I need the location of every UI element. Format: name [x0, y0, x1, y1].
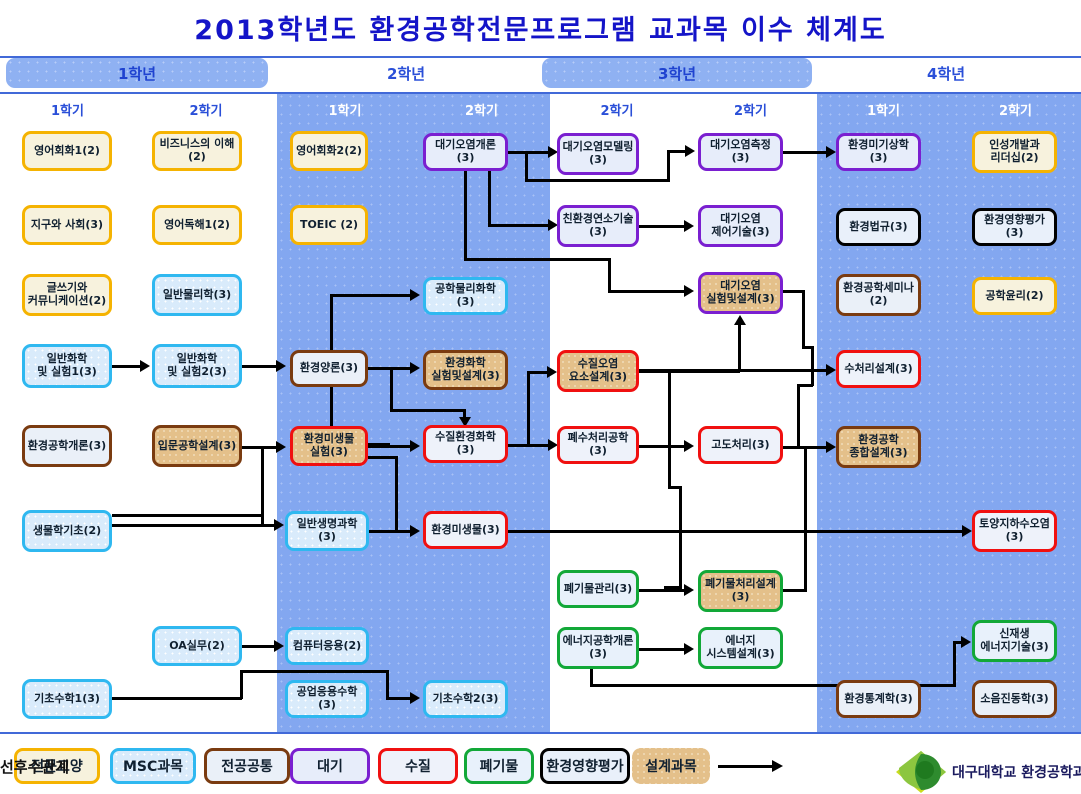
year-header-4: 4학년 [814, 58, 1078, 88]
semester-header-1-1: 1학기 [0, 98, 135, 120]
connector-arrow [276, 441, 286, 453]
course-box[interactable]: 환경통계학(3) [836, 680, 921, 718]
header-divider-mid [0, 92, 1081, 94]
header-divider-top [0, 56, 1081, 58]
course-box[interactable]: 환경미생물(3) [423, 511, 508, 549]
course-box[interactable]: 공업응용수학(3) [285, 680, 369, 718]
connector-arrow [140, 360, 150, 372]
connector-arrow [410, 692, 420, 704]
course-label: 공업응용수학(3) [290, 686, 364, 711]
connector-line [369, 530, 413, 533]
connector-line [525, 151, 528, 181]
course-label: 영어회화2(2) [296, 145, 362, 158]
connector-line [679, 486, 682, 586]
connector-line [811, 346, 814, 386]
curriculum-flowchart-page: 2013학년도 환경공학전문프로그램 교과목 이수 체계도 1학년 2학년 3학… [0, 0, 1081, 794]
course-label: TOEIC (2) [300, 219, 358, 232]
connector-arrow [274, 640, 284, 652]
course-box[interactable]: 토양지하수오염(3) [972, 510, 1057, 552]
course-box[interactable]: 폐기물관리(3) [557, 570, 639, 608]
course-box[interactable]: 환경영향평가(3) [972, 208, 1057, 246]
year-header-label: 2학년 [387, 63, 425, 84]
connector-line [608, 290, 688, 293]
connector-line [797, 384, 800, 446]
course-label: 비즈니스의 이해(2) [160, 138, 235, 163]
course-box[interactable]: 영어회화1(2) [22, 131, 112, 171]
course-box[interactable]: 환경미생물실험(3) [290, 426, 368, 466]
connector-line [330, 294, 333, 352]
connector-arrow [410, 362, 420, 374]
legend-item: 폐기물 [464, 748, 534, 784]
course-label: 환경공학종합설계(3) [849, 434, 907, 459]
connector-line [508, 151, 552, 154]
legend-item-label: 환경영향평가 [546, 756, 623, 776]
legend-item: 대기 [290, 748, 370, 784]
course-box[interactable]: 폐기물처리설계(3) [698, 570, 783, 612]
connector-line [390, 367, 393, 411]
connector-arrow [410, 440, 420, 452]
course-label: 환경공학개론(3) [28, 440, 106, 453]
year-header-2: 2학년 [272, 58, 540, 88]
course-label: 컴퓨터응용(2) [293, 640, 361, 653]
course-box[interactable]: 대기오염모델링(3) [557, 133, 639, 175]
course-box[interactable]: 대기오염제어기술(3) [698, 205, 783, 247]
semester-header-1-2: 2학기 [135, 98, 277, 120]
course-box[interactable]: 공학물리화학(3) [423, 277, 508, 315]
course-box[interactable]: 인성개발과리더십(2) [972, 131, 1057, 173]
course-label: 인성개발과리더십(2) [989, 139, 1040, 164]
legend-item: 환경영향평가 [540, 748, 630, 784]
connector-arrow [826, 441, 836, 453]
semester-header-3-1: 2학기 [550, 98, 684, 120]
course-box[interactable]: OA실무(2) [152, 626, 242, 666]
connector-arrow [410, 525, 420, 537]
course-label: 환경양론(3) [300, 362, 358, 375]
connector-line [242, 365, 278, 368]
course-label: 에너지공학개론(3) [563, 635, 634, 660]
course-label: 영어독해1(2) [164, 219, 230, 232]
course-label: 대기오염제어기술(3) [711, 213, 769, 238]
connector-line [639, 648, 687, 651]
connector-line [386, 670, 389, 699]
course-box[interactable]: 일반물리학(3) [152, 274, 242, 316]
connector-line [488, 224, 552, 227]
semester-header-4-2: 2학기 [950, 98, 1081, 120]
course-label: 수처리설계(3) [844, 363, 912, 376]
course-box[interactable]: TOEIC (2) [290, 205, 368, 245]
semester-label: 1학기 [51, 100, 84, 119]
course-label: 대기오염개론(3) [428, 139, 503, 164]
course-box[interactable]: 신재생에너지기술(3) [972, 620, 1057, 662]
course-box[interactable]: 기초수학2(3) [423, 680, 508, 718]
course-box[interactable]: 환경공학종합설계(3) [836, 426, 921, 468]
course-label: OA실무(2) [169, 640, 225, 653]
course-label: 소음진동학(3) [980, 693, 1048, 706]
course-box[interactable]: 수처리설계(3) [836, 350, 921, 388]
semester-label: 2학기 [465, 100, 498, 119]
connector-line [368, 445, 412, 448]
connector-arrow [962, 525, 972, 537]
course-label: 일반생명과학(3) [290, 518, 364, 543]
course-label: 일반화학및 실험2(3) [167, 353, 227, 378]
connector-arrow [826, 364, 836, 376]
semester-header-2-1: 1학기 [277, 98, 413, 120]
course-label: 환경미기상학(3) [841, 139, 916, 164]
connector-line [639, 445, 687, 448]
course-box[interactable]: 입문공학설계(3) [152, 425, 242, 467]
connector-line [668, 370, 671, 488]
course-label: 대기오염측정(3) [703, 139, 778, 164]
connector-line [639, 589, 687, 592]
semester-header-3-2: 2학기 [684, 98, 817, 120]
course-box[interactable]: 영어회화2(2) [290, 131, 368, 171]
connector-line [953, 641, 956, 686]
university-logo-icon [895, 750, 947, 794]
year-header-label: 4학년 [927, 63, 965, 84]
legend-item-label: 수질 [405, 756, 431, 776]
page-title: 2013학년도 환경공학전문프로그램 교과목 이수 체계도 [0, 8, 1081, 47]
course-box[interactable]: 공학윤리(2) [972, 277, 1057, 315]
footer-divider [0, 732, 1081, 734]
course-box[interactable]: 환경공학개론(3) [22, 425, 112, 467]
course-label: 환경미생물실험(3) [304, 433, 355, 458]
course-label: 수질오염요소설계(3) [569, 358, 627, 383]
course-label: 환경법규(3) [849, 221, 907, 234]
connector-arrow [547, 366, 557, 378]
connector-line [525, 179, 670, 182]
course-label: 입문공학설계(3) [158, 440, 236, 453]
connector-line [240, 670, 243, 699]
course-box[interactable]: 대기오염측정(3) [698, 133, 783, 171]
connector-arrow [961, 636, 971, 648]
connector-line [112, 524, 280, 527]
connector-arrow [685, 145, 695, 157]
connector-line [667, 150, 670, 180]
connector-arrow [684, 220, 694, 232]
course-box[interactable]: 수질오염요소설계(3) [557, 350, 639, 392]
course-box[interactable]: 지구와 사회(3) [22, 205, 112, 245]
semester-header-4-1: 1학기 [817, 98, 950, 120]
course-label: 환경공학세미나(2) [843, 282, 914, 307]
connector-arrow [274, 519, 284, 531]
course-box[interactable]: 에너지시스템설계(3) [698, 627, 783, 669]
legend-item: MSC과목 [110, 748, 196, 784]
connector-line [112, 697, 242, 700]
connector-line [112, 514, 262, 517]
course-box[interactable]: 기초수학1(3) [22, 679, 112, 719]
semester-label: 2학기 [999, 100, 1032, 119]
connector-arrow [276, 360, 286, 372]
connector-line [240, 670, 388, 673]
course-box[interactable]: 폐수처리공학(3) [557, 426, 639, 464]
legend-item: 전공공통 [204, 748, 290, 784]
course-label: 에너지시스템설계(3) [706, 635, 774, 660]
course-label: 환경영향평가(3) [977, 214, 1052, 239]
legend-item: 설계과목 [632, 748, 710, 784]
semester-label: 2학기 [601, 100, 634, 119]
year-header-label: 1학년 [118, 63, 156, 84]
course-box[interactable]: 환경화학실험및설계(3) [423, 350, 508, 390]
legend-relation-label: 선후수관계 [0, 756, 69, 777]
course-label: 영어회화1(2) [34, 145, 100, 158]
connector-arrow [410, 289, 420, 301]
semester-label: 2학기 [734, 100, 767, 119]
legend-item: 수질 [378, 748, 458, 784]
connector-line [508, 530, 966, 533]
connector-line [639, 225, 687, 228]
connector-line [508, 444, 552, 447]
connector-line [261, 446, 264, 516]
connector-line [608, 258, 611, 291]
semester-label: 2학기 [190, 100, 223, 119]
semester-label: 1학기 [867, 100, 900, 119]
course-box[interactable]: 일반생명과학(3) [285, 511, 369, 551]
semester-label: 1학기 [329, 100, 362, 119]
course-label: 토양지하수오염(3) [979, 518, 1050, 543]
legend-item-label: MSC과목 [123, 756, 183, 776]
course-box[interactable]: 환경공학세미나(2) [836, 274, 921, 316]
connector-arrow [826, 146, 836, 158]
course-label: 신재생에너지기술(3) [980, 628, 1048, 653]
connector-line [738, 325, 741, 371]
course-box[interactable]: 환경미기상학(3) [836, 133, 921, 171]
course-label: 폐기물관리(3) [564, 583, 632, 596]
semester-header-2-2: 2학기 [413, 98, 550, 120]
course-label: 친환경연소기술(3) [563, 213, 634, 238]
course-label: 고도처리(3) [711, 439, 769, 452]
course-label: 환경통계학(3) [844, 693, 912, 706]
course-label: 글쓰기와커뮤니케이션(2) [28, 282, 106, 307]
connector-arrow [684, 643, 694, 655]
connector-arrow [684, 440, 694, 452]
course-box[interactable]: 수질환경화학(3) [423, 425, 508, 463]
course-label: 환경화학실험및설계(3) [431, 357, 499, 382]
course-label: 폐기물처리설계(3) [705, 578, 776, 603]
course-box[interactable]: 환경법규(3) [836, 208, 921, 246]
connector-line [330, 294, 412, 297]
course-box[interactable]: 에너지공학개론(3) [557, 627, 639, 669]
course-label: 일반물리학(3) [163, 289, 231, 302]
course-box[interactable]: 일반화학및 실험1(3) [22, 344, 112, 388]
legend-item-label: 폐기물 [480, 756, 519, 776]
course-box[interactable]: 생물학기초(2) [22, 510, 112, 552]
course-label: 공학윤리(2) [985, 290, 1043, 303]
connector-line [464, 258, 611, 261]
course-box[interactable]: 소음진동학(3) [972, 680, 1057, 718]
connector-line [112, 365, 142, 368]
legend-item-label: 대기 [317, 756, 343, 776]
course-box[interactable]: 대기오염개론(3) [423, 133, 508, 171]
course-label: 기초수학2(3) [433, 693, 499, 706]
connector-arrow [734, 315, 746, 325]
connector-line [802, 290, 805, 348]
legend-relation-arrow-line [718, 765, 774, 768]
course-box[interactable]: 일반화학및 실험2(3) [152, 344, 242, 388]
course-label: 환경미생물(3) [431, 524, 499, 537]
course-label: 대기오염실험및설계(3) [706, 280, 774, 305]
connector-line [783, 151, 829, 154]
year-header-3: 3학년 [542, 58, 812, 88]
course-label: 대기오염모델링(3) [563, 141, 634, 166]
course-label: 폐수처리공학(3) [562, 432, 634, 457]
course-box[interactable]: 비즈니스의 이해(2) [152, 131, 242, 171]
course-label: 일반화학및 실험1(3) [37, 353, 97, 378]
university-name: 대구대학교 환경공학과 [952, 762, 1081, 782]
connector-line [488, 171, 491, 226]
connector-line [464, 171, 467, 261]
connector-line [804, 446, 807, 592]
year-header-label: 3학년 [658, 63, 696, 84]
course-label: 생물학기초(2) [33, 525, 101, 538]
course-box[interactable]: 환경양론(3) [290, 350, 368, 387]
connector-line [242, 645, 278, 648]
course-box[interactable]: 친환경연소기술(3) [557, 205, 639, 247]
legend-item-label: 설계과목 [645, 756, 697, 776]
connector-line [390, 409, 466, 412]
course-box[interactable]: 글쓰기와커뮤니케이션(2) [22, 274, 112, 316]
connector-arrow [684, 584, 694, 596]
connector-line [395, 456, 398, 530]
course-box[interactable]: 컴퓨터응용(2) [285, 627, 369, 665]
course-box[interactable]: 고도처리(3) [698, 426, 783, 464]
course-box[interactable]: 영어독해1(2) [152, 205, 242, 245]
course-box[interactable]: 대기오염실험및설계(3) [698, 272, 783, 314]
legend-item-label: 전공공통 [221, 756, 273, 776]
course-label: 수질환경화학(3) [428, 431, 503, 456]
legend-relation-arrow-head [772, 760, 783, 772]
connector-line [527, 371, 530, 447]
connector-arrow [684, 285, 694, 297]
course-label: 공학물리화학(3) [428, 283, 503, 308]
course-label: 기초수학1(3) [34, 693, 100, 706]
course-label: 지구와 사회(3) [31, 219, 103, 232]
year-header-1: 1학년 [6, 58, 268, 88]
connector-line [368, 456, 398, 459]
